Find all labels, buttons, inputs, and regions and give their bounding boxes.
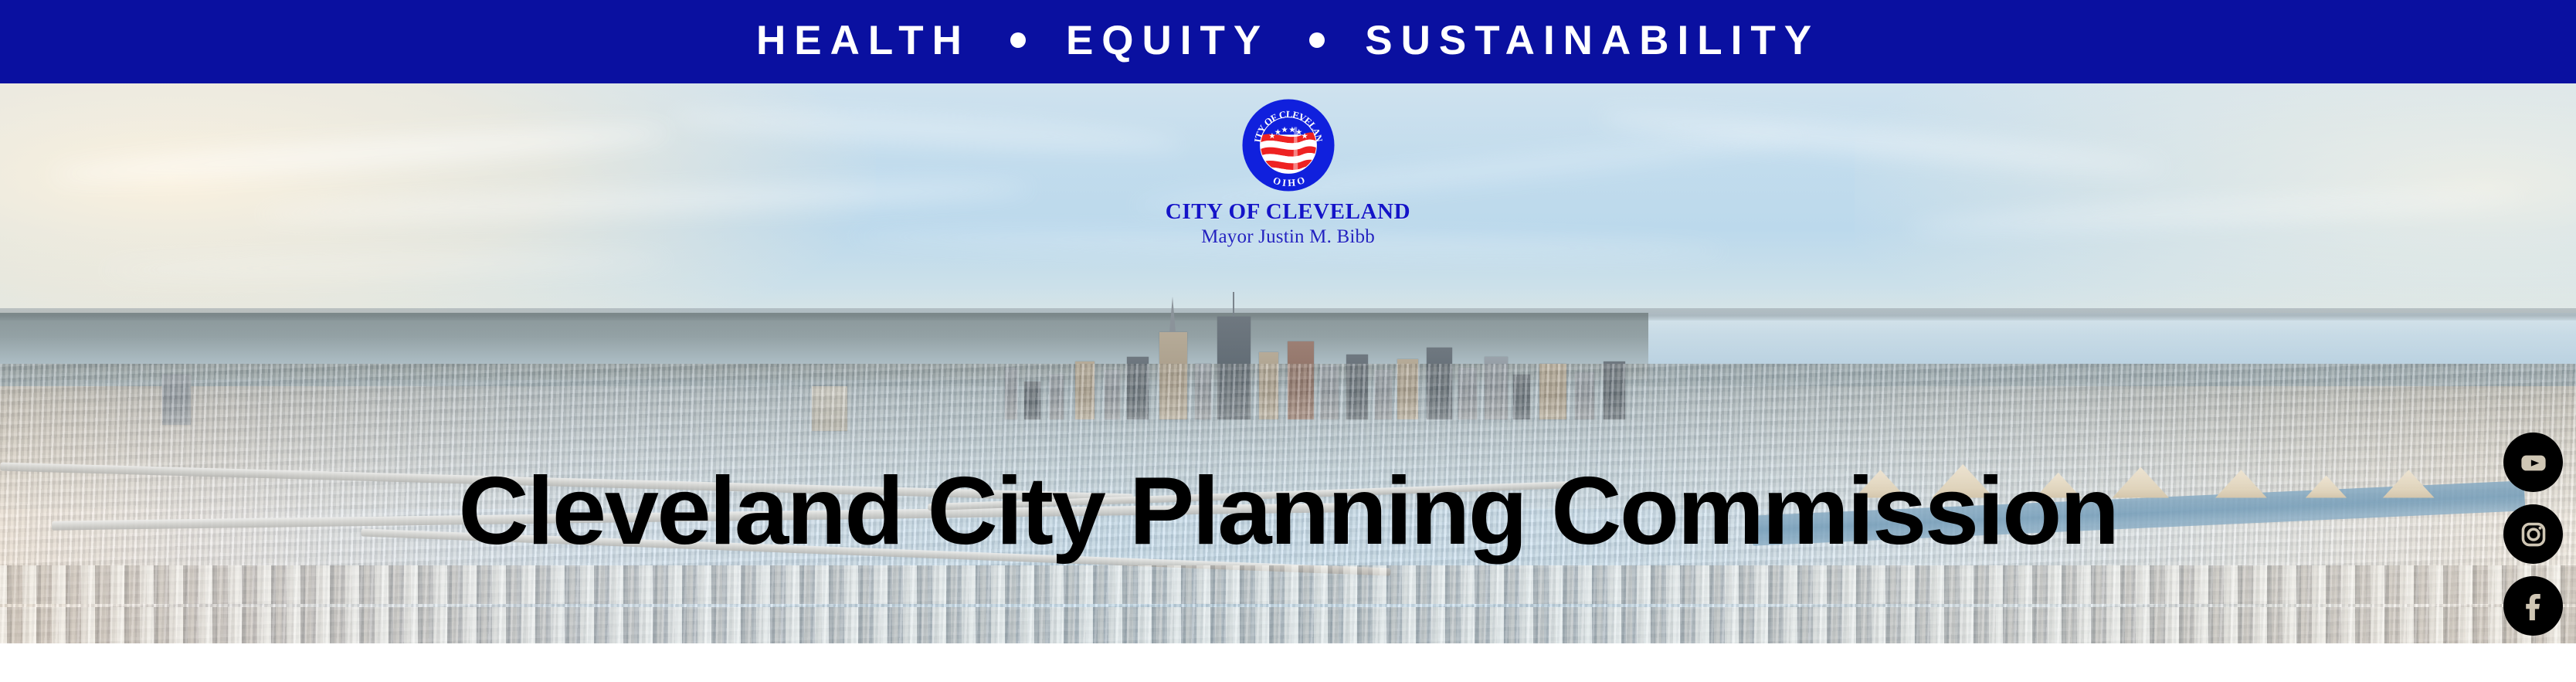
tagline-word-health: HEALTH <box>756 20 970 61</box>
bullet-dot-icon <box>1309 32 1325 48</box>
instagram-icon <box>2514 515 2553 554</box>
foreground-housing-row <box>0 565 2576 605</box>
tagline-word-sustainability: SUSTAINABILITY <box>1365 20 1820 61</box>
tagline-word-equity: EQUITY <box>1066 20 1269 61</box>
page-title: Cleveland City Planning Commission <box>0 463 2576 559</box>
page-root: HEALTH EQUITY SUSTAINABILITY <box>0 0 2576 682</box>
youtube-link[interactable] <box>2503 433 2563 492</box>
tagline-banner: HEALTH EQUITY SUSTAINABILITY <box>0 0 2576 83</box>
tagline-strip: HEALTH EQUITY SUSTAINABILITY <box>756 20 1820 61</box>
hero-photo-region: CITY OF CLEVELAND OHIO CITY OF CLEVELAND… <box>0 83 2576 643</box>
social-media-rail[interactable] <box>2503 433 2563 636</box>
terminal-tower-spire <box>1169 297 1176 332</box>
city-identity-block: CITY OF CLEVELAND OHIO CITY OF CLEVELAND… <box>1126 97 1451 248</box>
bottom-white-strip <box>0 643 2576 682</box>
facebook-link[interactable] <box>2503 576 2563 636</box>
instagram-link[interactable] <box>2503 504 2563 564</box>
mayor-name-label: Mayor Justin M. Bibb <box>1126 227 1451 247</box>
facebook-icon <box>2514 587 2553 626</box>
key-tower-antenna <box>1233 292 1234 317</box>
city-name-label: CITY OF CLEVELAND <box>1126 200 1451 223</box>
bullet-dot-icon <box>1010 32 1026 48</box>
foreground-housing-row <box>0 607 2576 643</box>
youtube-icon <box>2514 443 2553 482</box>
city-of-cleveland-seal-icon: CITY OF CLEVELAND OHIO <box>1240 97 1336 193</box>
